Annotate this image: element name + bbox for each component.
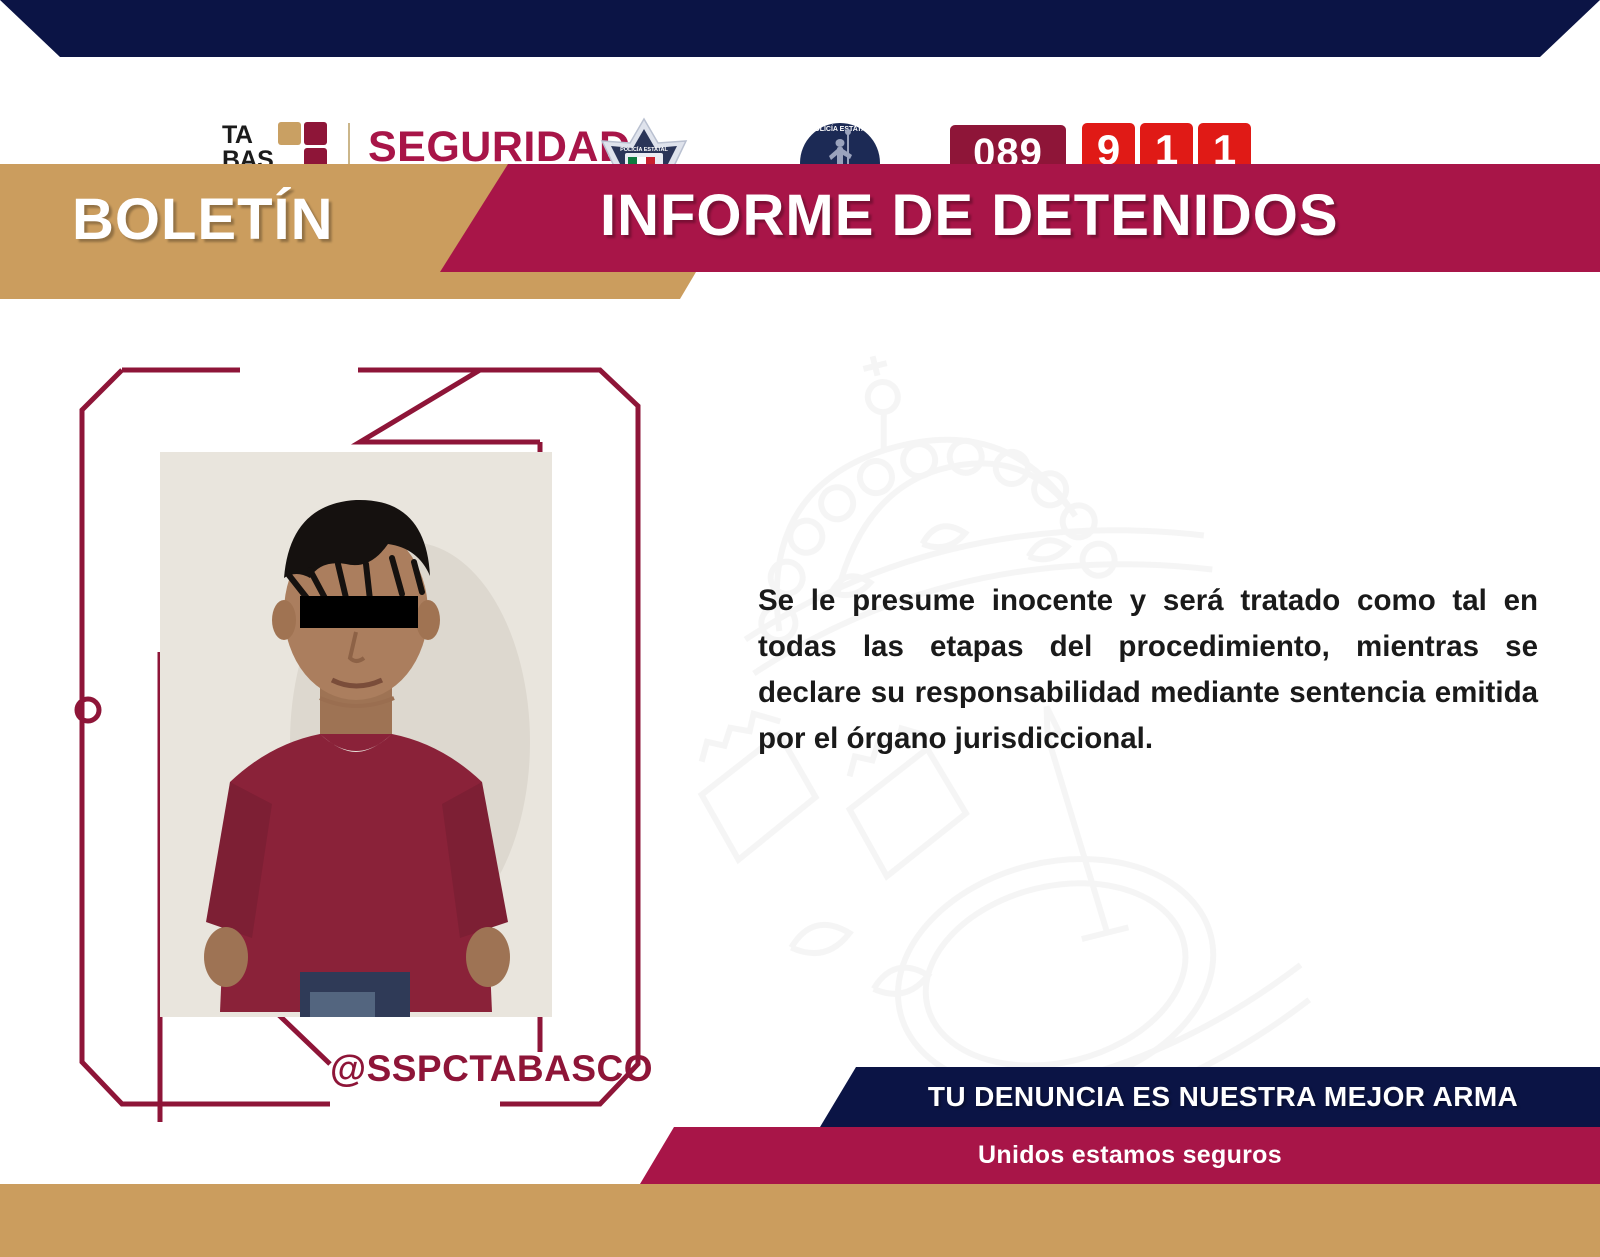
footer-slogan-secondary: Unidos estamos seguros (958, 1141, 1282, 1170)
footer-slogan-primary: TU DENUNCIA ES NUESTRA MEJOR ARMA (902, 1081, 1518, 1113)
title-banner: BOLETÍN INFORME DE DETENIDOS (0, 164, 1600, 299)
footer-slogan-primary-banner: TU DENUNCIA ES NUESTRA MEJOR ARMA (820, 1067, 1600, 1127)
boletin-poster: TA BAS CO GOBIERNO DEL PUEBLO SEGURIDAD … (0, 0, 1600, 1257)
presumption-of-innocence-text: Se le presume inocente y será tratado co… (758, 578, 1538, 762)
detainee-photo-image (160, 452, 552, 1017)
footer-gold-bar (0, 1184, 1600, 1257)
glyph-face-icon (304, 122, 327, 145)
eye-censor-bar (300, 596, 418, 628)
footer-slogan-secondary-banner: Unidos estamos seguros (640, 1127, 1600, 1184)
top-navy-bar (0, 0, 1600, 57)
round-badge-top-text: POLICÍA ESTATAL (810, 124, 872, 133)
banner-informe-title: INFORME DE DETENIDOS (600, 182, 1339, 249)
social-handle: @SSPCTABASCO (330, 1048, 653, 1090)
tabasco-line-1: TA (222, 123, 273, 148)
banner-boletin-label: BOLETÍN (72, 186, 334, 253)
logo-strip: TA BAS CO GOBIERNO DEL PUEBLO SEGURIDAD … (0, 57, 1600, 164)
detainee-photo (160, 452, 552, 1017)
glyph-mosaic-icon (278, 122, 301, 145)
star-badge-top-text: POLICÍA ESTATAL (620, 145, 668, 153)
